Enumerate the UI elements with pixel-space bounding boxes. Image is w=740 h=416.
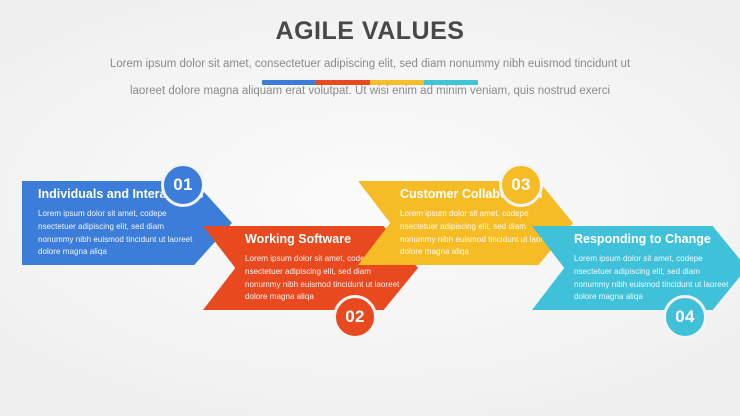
step-badge-1[interactable]: 01	[161, 163, 205, 207]
step-number-3: 03	[511, 175, 531, 195]
step-badge-2[interactable]: 02	[333, 295, 377, 339]
step-arrow-4[interactable]: Responding to Change Lorem ipsum dolor s…	[532, 226, 740, 310]
step-body-4: Lorem ipsum dolor sit amet, codepe nsect…	[574, 253, 729, 303]
step-number-4: 04	[675, 307, 695, 327]
step-body-3: Lorem ipsum dolor sit amet, codepe nsect…	[400, 208, 555, 258]
process-arrows: Individuals and Interactions Lorem ipsum…	[0, 0, 740, 416]
step-title-4: Responding to Change	[574, 232, 740, 247]
step-body-1: Lorem ipsum dolor sit amet, codepe nsect…	[38, 208, 193, 258]
infographic-slide: AGILE VALUES Lorem ipsum dolor sit amet,…	[0, 0, 740, 416]
step-badge-4[interactable]: 04	[663, 295, 707, 339]
step-number-1: 01	[173, 175, 193, 195]
step-number-2: 02	[345, 307, 365, 327]
step-title-3: Customer Collaboration	[400, 187, 573, 202]
step-badge-3[interactable]: 03	[499, 163, 543, 207]
